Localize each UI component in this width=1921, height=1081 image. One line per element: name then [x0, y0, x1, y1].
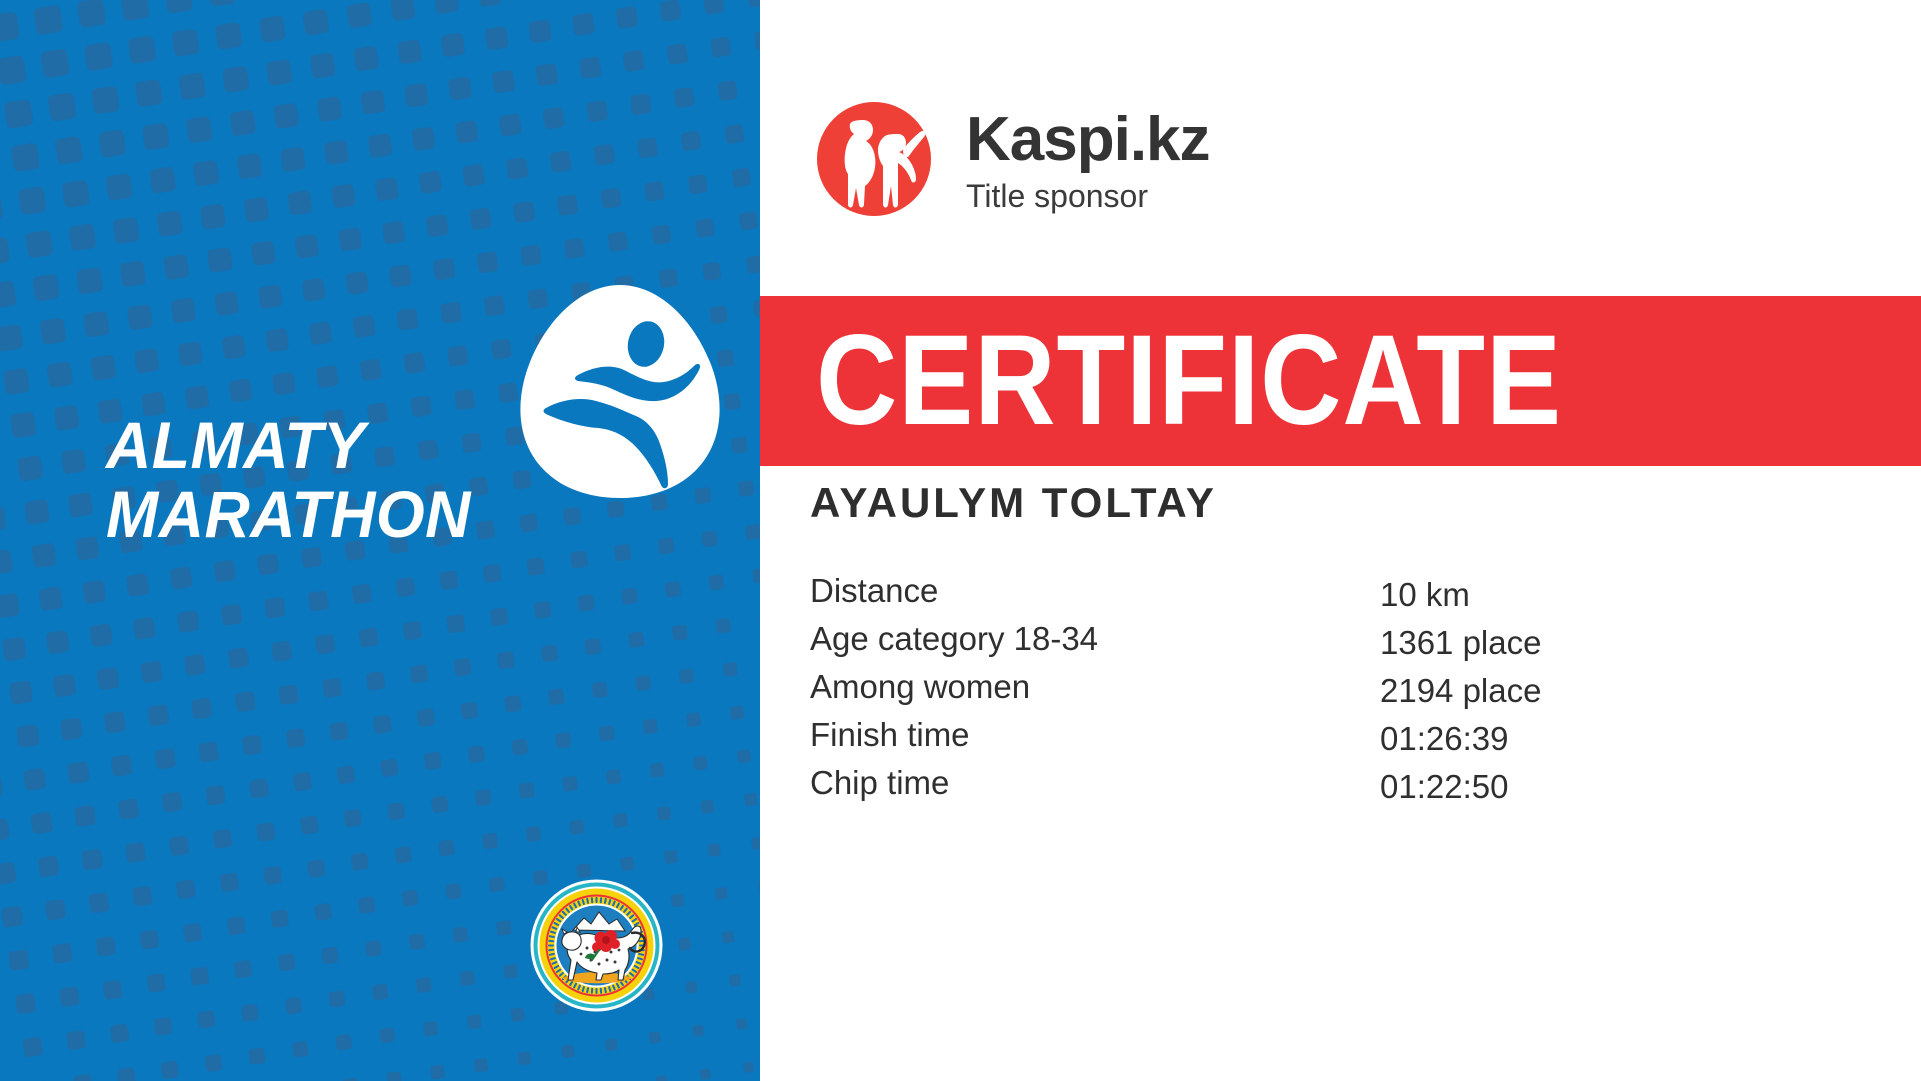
wordmark-line-marathon: MARATHON [106, 483, 505, 546]
result-value: 01:26:39 [1380, 718, 1508, 759]
kaspi-figures-icon [815, 100, 933, 218]
result-row: Finish time01:26:39 [810, 714, 1810, 762]
result-value: 2194 place [1380, 670, 1541, 711]
branding-panel: ALMATY MARATHON [0, 0, 760, 1081]
certificate-title: CERTIFICATE [816, 317, 1562, 445]
result-label: Among women [810, 666, 1030, 707]
result-value: 10 km [1380, 574, 1470, 615]
almaty-coat-of-arms-icon [529, 878, 664, 1013]
certificate-content-panel: Kaspi.kz Title sponsor CERTIFICATE AYAUL… [760, 0, 1921, 1081]
almaty-marathon-logo: ALMATY MARATHON [106, 282, 726, 602]
almaty-marathon-wordmark: ALMATY MARATHON [106, 414, 505, 545]
title-sponsor-block: Kaspi.kz Title sponsor [815, 100, 1210, 218]
certificate-banner: CERTIFICATE [760, 296, 1921, 466]
result-label: Age category 18-34 [810, 618, 1098, 659]
result-row: Distance10 km [810, 570, 1810, 618]
result-row: Among women2194 place [810, 666, 1810, 714]
certificate-page: ALMATY MARATHON [0, 0, 1921, 1081]
result-value: 1361 place [1380, 622, 1541, 663]
result-label: Finish time [810, 714, 970, 755]
sponsor-name: Kaspi.kz [966, 108, 1210, 171]
wordmark-line-almaty: ALMATY [106, 414, 505, 477]
result-value: 01:22:50 [1380, 766, 1508, 807]
result-row: Age category 18-341361 place [810, 618, 1810, 666]
result-label: Chip time [810, 762, 949, 803]
results-table: Distance10 kmAge category 18-341361 plac… [810, 570, 1810, 810]
result-label: Distance [810, 570, 938, 611]
sponsor-text-block: Kaspi.kz Title sponsor [966, 100, 1210, 216]
sponsor-role: Title sponsor [966, 177, 1210, 215]
athlete-name: AYAULYM TOLTAY [810, 482, 1217, 524]
almaty-marathon-runner-mark-icon [516, 282, 724, 500]
result-row: Chip time01:22:50 [810, 762, 1810, 810]
